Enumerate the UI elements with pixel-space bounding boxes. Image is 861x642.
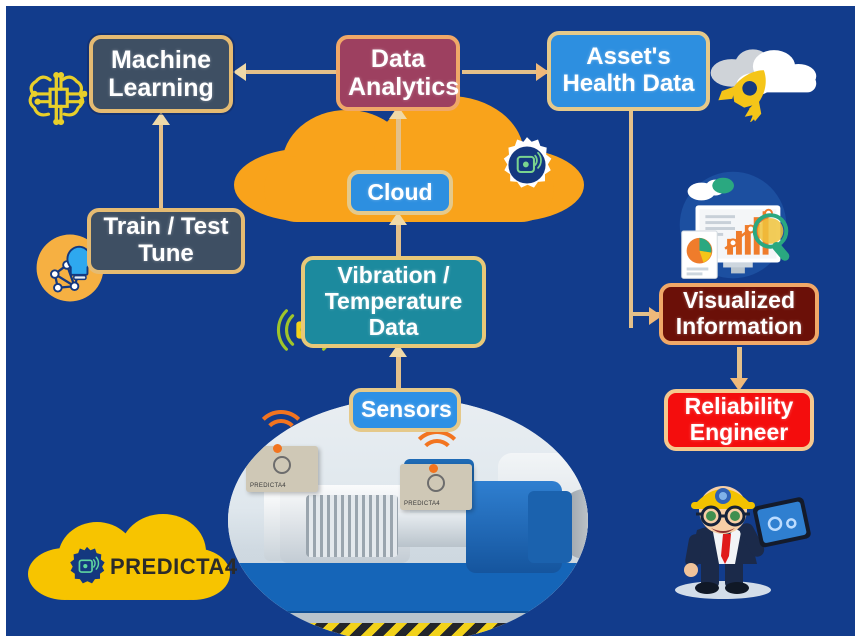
rocket-cloud-icon xyxy=(696,40,826,122)
node-label-line2: Analytics xyxy=(348,73,448,101)
node-visualized-information[interactable]: Visualized Information xyxy=(659,283,819,345)
node-label-line2: Health Data xyxy=(559,71,698,98)
arrowhead-to-ml xyxy=(233,63,246,81)
reliability-engineer-avatar xyxy=(661,468,811,600)
node-vibration-temperature-data[interactable]: Vibration / Temperature Data xyxy=(301,256,486,348)
node-label-line2: Information xyxy=(671,314,807,340)
arrowhead-to-ml-up xyxy=(152,112,170,125)
node-label-line1: Reliability xyxy=(676,394,802,420)
wifi-signal-icon xyxy=(254,410,308,458)
node-label-line2: Tune xyxy=(99,241,233,268)
predicta4-logo: PREDICTA4 xyxy=(28,514,230,610)
connector-cloud-to-analytics xyxy=(396,118,401,174)
sensor-gear-icon xyxy=(66,546,108,588)
diagram-canvas: PREDICTA4 PREDICTA4 xyxy=(0,0,861,642)
node-label-line1: Visualized xyxy=(671,288,807,314)
connector-analytics-to-ml xyxy=(244,70,336,74)
node-label-line1: Train / Test xyxy=(99,214,233,241)
node-label-line1: Vibration / xyxy=(313,263,474,289)
node-assets-health-data[interactable]: Asset's Health Data xyxy=(547,31,710,111)
connector-asset-vertical xyxy=(629,110,633,328)
node-label: Cloud xyxy=(359,180,441,206)
node-label-line1: Asset's xyxy=(559,44,698,71)
node-reliability-engineer[interactable]: Reliability Engineer xyxy=(664,389,814,451)
logo-text: PREDICTA4 xyxy=(110,554,238,580)
sensor-box-label: PREDICTA4 xyxy=(250,483,286,489)
node-label: Sensors xyxy=(361,397,449,423)
node-label-line1: Machine xyxy=(101,46,221,74)
node-cloud[interactable]: Cloud xyxy=(347,170,453,215)
node-data-analytics[interactable]: Data Analytics xyxy=(336,35,460,111)
node-machine-learning[interactable]: Machine Learning xyxy=(89,35,233,113)
node-train-test-tune[interactable]: Train / Test Tune xyxy=(87,208,245,274)
node-label-line2: Learning xyxy=(101,74,221,102)
node-label-line3: Data xyxy=(313,315,474,341)
connector-train-to-ml xyxy=(159,124,163,210)
node-sensors[interactable]: Sensors xyxy=(349,388,461,432)
cloud-gear-sensor-icon xyxy=(498,136,556,194)
node-label-line1: Data xyxy=(348,45,448,73)
node-label-line2: Engineer xyxy=(676,420,802,446)
connector-sensors-to-vibration xyxy=(396,356,401,392)
sensor-box-label: PREDICTA4 xyxy=(404,501,440,507)
analytics-dashboard-icon xyxy=(660,169,808,289)
wifi-signal-icon xyxy=(410,430,464,478)
node-label-line2: Temperature xyxy=(313,289,474,315)
